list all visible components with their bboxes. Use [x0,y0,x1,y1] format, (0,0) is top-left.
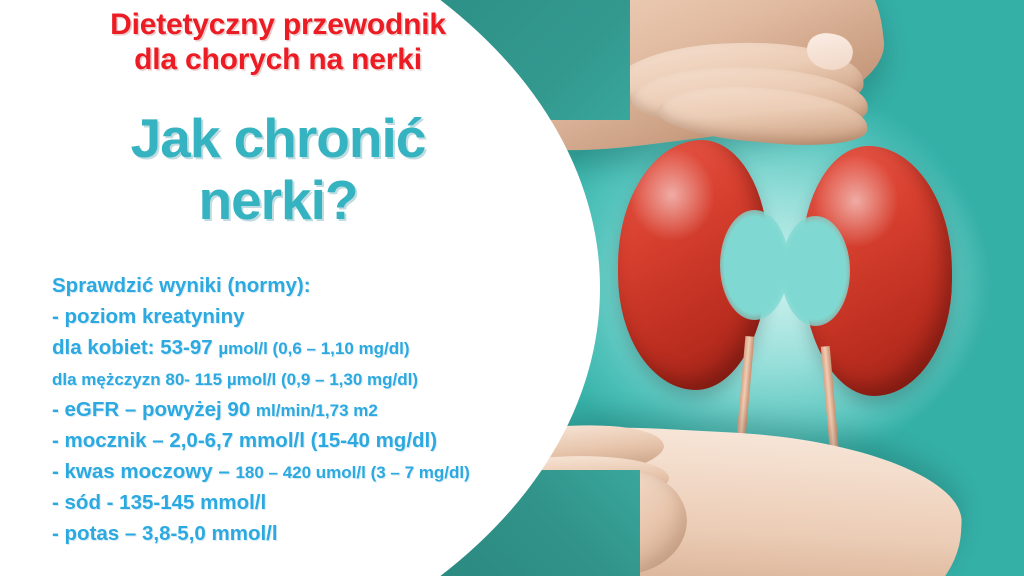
red-title-line-1: Dietetyczny przewodnik [0,8,556,43]
fact-main-2: - eGFR – powyżej 90 [52,398,256,421]
kidney-left-hilum [720,210,789,320]
list-item: - kwas moczowy – 180 – 420 umol/l (3 – 7… [52,461,572,483]
teal-heading-line-2: nerki? [0,170,556,232]
fact-main-0: dla kobiet: 53-97 [52,336,218,359]
list-item: dla mężczyzn 80- 115 µmol/l (0,9 – 1,30 … [52,368,572,390]
fact-main-5: - sód - 135-145 mmol/l [52,491,266,514]
fact-unit-4: 180 – 420 umol/l (3 – 7 mg/dl) [235,463,469,482]
fact-main-6: - potas – 3,8-5,0 mmol/l [52,522,278,545]
fact-main-4: - kwas moczowy – [52,460,235,483]
kidney-left [618,140,768,390]
fact-unit-1: dla mężczyzn 80- 115 µmol/l (0,9 – 1,30 … [52,370,418,389]
facts-heading: Sprawdzić wyniki (normy): [52,275,572,297]
facts-heading-text: Sprawdzić wyniki (normy): [52,274,311,297]
list-item: - eGFR – powyżej 90 ml/min/1,73 m2 [52,399,572,421]
fact-unit-0: µmol/l (0,6 – 1,10 mg/dl) [218,339,409,358]
facts-subheading: - poziom kreatyniny [52,306,572,328]
kidney-right [802,146,952,396]
list-item: - potas – 3,8-5,0 mmol/l [52,523,572,545]
list-item: - sód - 135-145 mmol/l [52,492,572,514]
list-item: - mocznik – 2,0-6,7 mmol/l (15-40 mg/dl) [52,430,572,452]
red-title-line-2: dla chorych na nerki [0,43,556,78]
red-title: Dietetyczny przewodnik dla chorych na ne… [0,8,556,78]
teal-heading-line-1: Jak chronić [0,108,556,170]
slide-canvas: Dietetyczny przewodnik dla chorych na ne… [0,0,1024,576]
lab-values-list: Sprawdzić wyniki (normy): - poziom kreat… [52,275,572,554]
facts-subheading-text: - poziom kreatyniny [52,305,245,328]
kidney-right-hilum [781,216,850,326]
list-item: dla kobiet: 53-97 µmol/l (0,6 – 1,10 mg/… [52,337,572,359]
fact-unit-2: ml/min/1,73 m2 [256,401,378,420]
teal-heading: Jak chronić nerki? [0,108,556,231]
fact-main-3: - mocznik – 2,0-6,7 mmol/l (15-40 mg/dl) [52,429,437,452]
content-layer: Dietetyczny przewodnik dla chorych na ne… [0,0,620,576]
